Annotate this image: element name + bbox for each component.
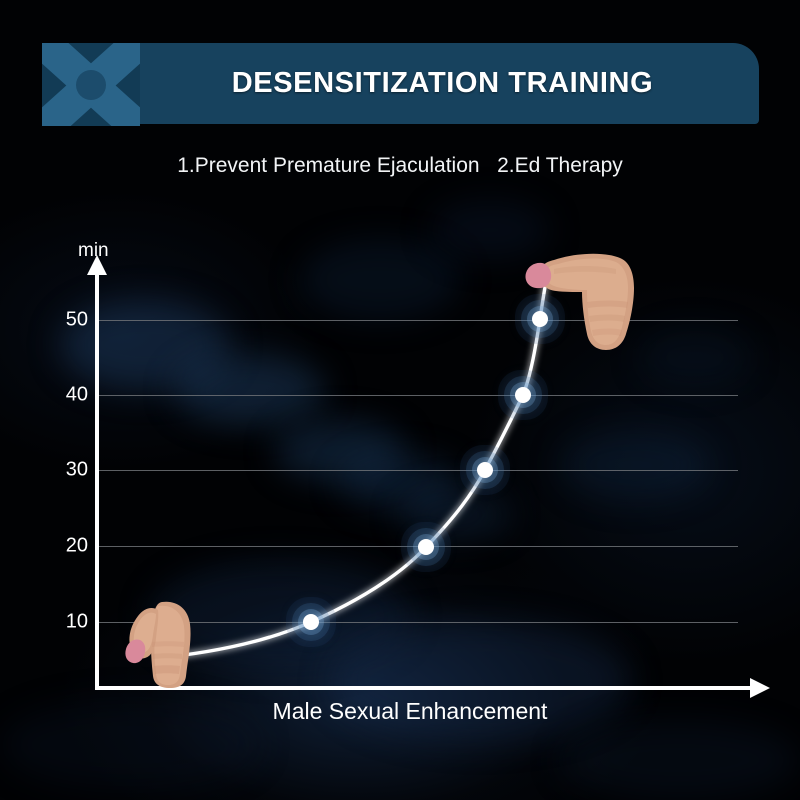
y-tick-label-10: 10 (42, 611, 88, 634)
x-axis-arrow-icon (750, 678, 770, 698)
line-chart: min 50 40 30 20 10 Male Sexual Enhanceme… (0, 0, 800, 800)
gridline-40 (98, 395, 738, 396)
data-point-30[interactable] (477, 462, 493, 478)
gridline-30 (98, 470, 738, 471)
data-point-10[interactable] (303, 614, 319, 630)
x-axis-label: Male Sexual Enhancement (0, 698, 800, 725)
y-tick-label-30: 30 (42, 459, 88, 482)
y-axis-line (95, 272, 99, 689)
y-tick-label-20: 20 (42, 535, 88, 558)
flaccid-product-image (118, 596, 210, 692)
poster-canvas: DESENSITIZATION TRAINING 1.Prevent Prema… (0, 0, 800, 800)
erect-product-image (524, 240, 650, 356)
data-point-20[interactable] (418, 539, 434, 555)
y-tick-label-50: 50 (42, 309, 88, 332)
y-axis-unit-label: min (78, 240, 109, 262)
y-tick-label-40: 40 (42, 384, 88, 407)
data-point-40[interactable] (515, 387, 531, 403)
